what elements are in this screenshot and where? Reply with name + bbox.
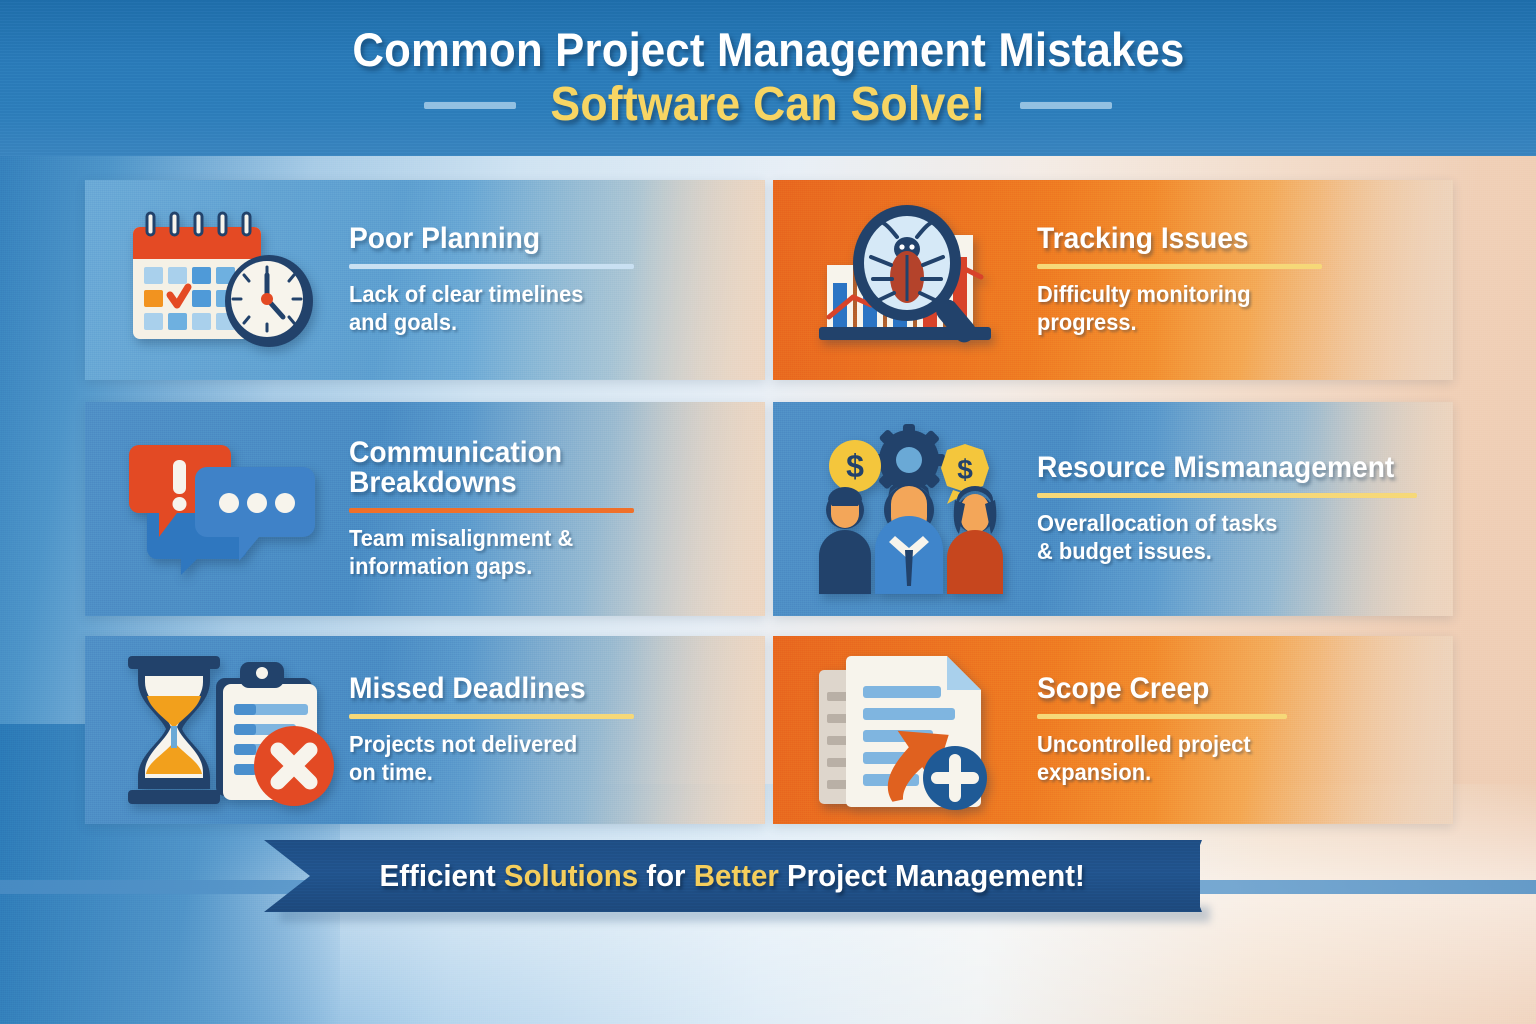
footer-ribbon: Efficient Solutions for Better Project M… bbox=[264, 840, 1200, 912]
card-description: Projects not delivered on time. bbox=[349, 730, 727, 786]
ribbon-text-part2: for bbox=[638, 858, 694, 893]
ribbon-text-part1: Efficient bbox=[379, 858, 503, 893]
card-title: Missed Deadlines bbox=[349, 674, 723, 705]
team-gear-money-icon: $ $ bbox=[787, 402, 1037, 616]
card-rule bbox=[1037, 493, 1417, 498]
header-banner: Common Project Management Mistakes Softw… bbox=[0, 0, 1536, 156]
calendar-clock-icon bbox=[99, 180, 349, 380]
card-description: Team misalignment & information gaps. bbox=[349, 524, 727, 580]
card-poor-planning[interactable]: Poor Planning Lack of clear timelines an… bbox=[85, 180, 765, 380]
card-rule bbox=[349, 714, 634, 719]
card-rule bbox=[349, 508, 634, 513]
speech-bubbles-icon bbox=[99, 402, 349, 616]
document-arrow-plus-icon bbox=[787, 636, 1037, 824]
card-tracking-issues[interactable]: Tracking Issues Difficulty monitoring pr… bbox=[773, 180, 1453, 380]
ribbon-highlight-better: Better bbox=[694, 858, 779, 893]
card-title: Resource Mismanagement bbox=[1037, 453, 1411, 484]
card-description: Uncontrolled project expansion. bbox=[1037, 730, 1415, 786]
ribbon-highlight-solutions: Solutions bbox=[504, 858, 638, 893]
card-title: Poor Planning bbox=[349, 224, 723, 255]
card-title: Scope Creep bbox=[1037, 674, 1411, 705]
page-title-line2: Software Can Solve! bbox=[550, 80, 985, 131]
card-resource-mismanagement[interactable]: $ $ bbox=[773, 402, 1453, 616]
card-description: Difficulty monitoring progress. bbox=[1037, 280, 1415, 336]
card-title: Tracking Issues bbox=[1037, 224, 1411, 255]
ribbon-text-part3: Project Management! bbox=[779, 858, 1085, 893]
title-rule-right bbox=[1020, 102, 1112, 109]
mistakes-grid: Poor Planning Lack of clear timelines an… bbox=[85, 180, 1453, 824]
svg-text:$: $ bbox=[846, 448, 864, 484]
card-missed-deadlines[interactable]: Missed Deadlines Projects not delivered … bbox=[85, 636, 765, 824]
bar-chart-magnifier-bug-icon bbox=[787, 180, 1037, 380]
svg-text:$: $ bbox=[957, 454, 973, 485]
hourglass-clipboard-x-icon bbox=[99, 636, 349, 824]
card-scope-creep[interactable]: Scope Creep Uncontrolled project expansi… bbox=[773, 636, 1453, 824]
card-rule bbox=[1037, 264, 1322, 269]
footer-ribbon-text: Efficient Solutions for Better Project M… bbox=[379, 858, 1084, 894]
title-rule-left bbox=[424, 102, 516, 109]
card-description: Lack of clear timelines and goals. bbox=[349, 280, 727, 336]
page-subtitle-row: Software Can Solve! bbox=[424, 80, 1112, 131]
infographic-canvas: Common Project Management Mistakes Softw… bbox=[0, 0, 1536, 1024]
page-title-line1: Common Project Management Mistakes bbox=[352, 25, 1184, 75]
card-description: Overallocation of tasks & budget issues. bbox=[1037, 509, 1415, 565]
card-rule bbox=[349, 264, 634, 269]
card-communication-breakdowns[interactable]: Communication Breakdowns Team misalignme… bbox=[85, 402, 765, 616]
card-title: Communication Breakdowns bbox=[349, 438, 723, 500]
card-rule bbox=[1037, 714, 1287, 719]
